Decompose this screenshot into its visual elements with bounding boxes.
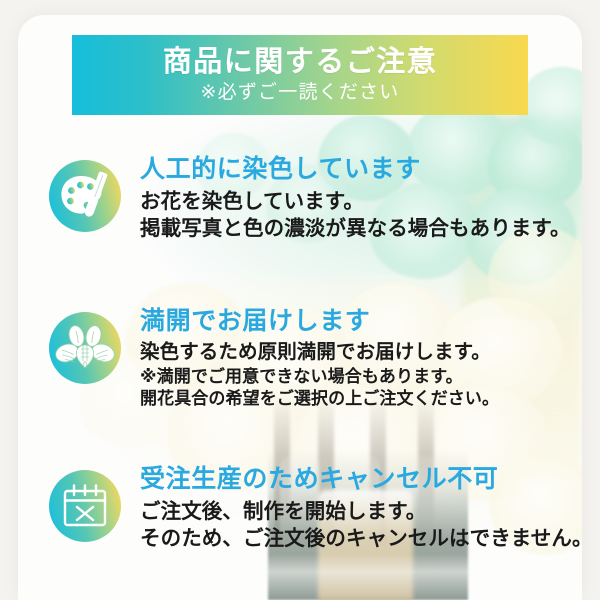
calendar-x-icon <box>48 469 122 543</box>
notice-body-line: ※満開でご用意できない場合もあります。 <box>140 366 568 388</box>
notice-body-line: お花を染色しています。 <box>140 188 568 215</box>
notice-text-block: 受注生産のためキャンセル不可 ご注文後、制作を開始します。 そのため、ご注文後の… <box>140 465 568 552</box>
palette-icon <box>48 159 122 233</box>
notice-item-full-bloom: 満開でお届けします 染色するため原則満開でお届けします。 ※満開でご用意できない… <box>48 307 568 410</box>
notice-heading: 満開でお届けします <box>140 307 568 335</box>
orchid-flower-icon <box>48 311 122 385</box>
notice-body-line: 染色するため原則満開でお届けします。 <box>140 340 568 366</box>
notice-text-block: 満開でお届けします 染色するため原則満開でお届けします。 ※満開でご用意できない… <box>140 307 568 410</box>
notice-body-line: 掲載写真と色の濃淡が異なる場合もあります。 <box>140 215 568 242</box>
notice-text-block: 人工的に染色しています お花を染色しています。 掲載写真と色の濃淡が異なる場合も… <box>140 155 568 242</box>
notice-body-line: そのため、ご注文後のキャンセルはできません。 <box>140 525 568 552</box>
notice-list: 人工的に染色しています お花を染色しています。 掲載写真と色の濃淡が異なる場合も… <box>18 15 582 600</box>
notice-graphic: 商品に関するご注意 ※必ずご一読ください <box>0 0 600 600</box>
content-card: 商品に関するご注意 ※必ずご一読ください <box>18 15 582 600</box>
notice-heading: 人工的に染色しています <box>140 155 568 183</box>
notice-body-line: 開花具合の希望をご選択の上ご注文ください。 <box>140 388 568 410</box>
notice-heading: 受注生産のためキャンセル不可 <box>140 465 568 493</box>
notice-item-dyed: 人工的に染色しています お花を染色しています。 掲載写真と色の濃淡が異なる場合も… <box>48 155 568 242</box>
notice-body-line: ご注文後、制作を開始します。 <box>140 498 568 525</box>
notice-item-no-cancel: 受注生産のためキャンセル不可 ご注文後、制作を開始します。 そのため、ご注文後の… <box>48 465 568 552</box>
